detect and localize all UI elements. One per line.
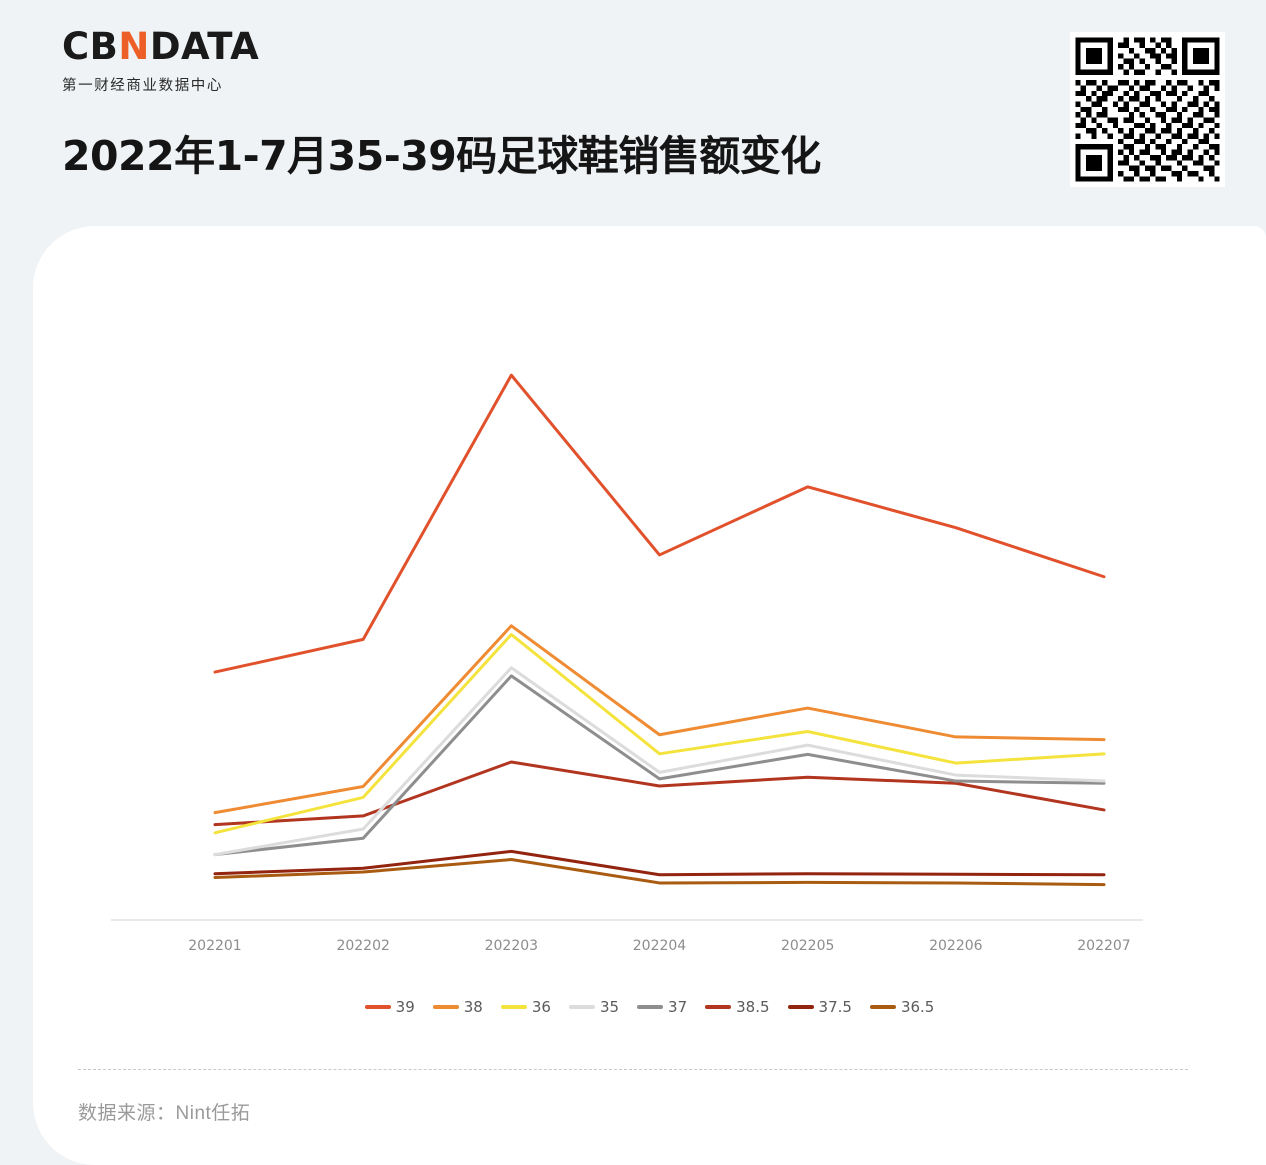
chart-legend: 393836353738.537.536.5 (33, 998, 1266, 1016)
legend-swatch-icon (569, 1005, 595, 1009)
logo-accent-letter: N (118, 25, 149, 68)
legend-label: 38 (464, 998, 483, 1016)
legend-item-38[interactable]: 38 (433, 998, 483, 1016)
x-tick-label: 202203 (485, 938, 538, 954)
legend-item-36[interactable]: 36 (501, 998, 551, 1016)
legend-item-37[interactable]: 37 (637, 998, 687, 1016)
page-title: 2022年1-7月35-39码足球鞋销售额变化 (62, 122, 821, 182)
series-line-37 (215, 676, 1104, 855)
x-tick-label: 202205 (781, 938, 834, 954)
logo-suffix: DATA (150, 25, 259, 68)
x-tick-labels: 2022012022022022032022042022052022062022… (188, 938, 1130, 954)
legend-label: 39 (396, 998, 415, 1016)
legend-swatch-icon (501, 1005, 527, 1009)
legend-label: 37.5 (819, 998, 852, 1016)
chart-svg: 2022012022022022032022042022052022062022… (33, 226, 1266, 986)
legend-item-38.5[interactable]: 38.5 (705, 998, 769, 1016)
legend-swatch-icon (637, 1005, 663, 1009)
data-source-label: 数据来源：Nint任拓 (78, 1098, 250, 1125)
legend-label: 37 (668, 998, 687, 1016)
legend-label: 35 (600, 998, 619, 1016)
logo-wordmark: CBNDATA (62, 28, 259, 65)
line-chart: 2022012022022022032022042022052022062022… (33, 226, 1266, 986)
legend-swatch-icon (870, 1005, 896, 1009)
logo-subtitle: 第一财经商业数据中心 (62, 74, 259, 95)
legend-item-39[interactable]: 39 (365, 998, 415, 1016)
legend-item-36.5[interactable]: 36.5 (870, 998, 934, 1016)
x-tick-label: 202206 (929, 938, 983, 954)
x-tick-label: 202201 (188, 938, 241, 954)
brand-logo: CBNDATA 第一财经商业数据中心 (62, 28, 259, 95)
x-tick-label: 202207 (1077, 938, 1130, 954)
qr-code-svg (1070, 32, 1225, 187)
qr-code-icon[interactable] (1070, 32, 1225, 187)
legend-label: 36 (532, 998, 551, 1016)
footer-divider (78, 1069, 1188, 1070)
legend-label: 38.5 (736, 998, 769, 1016)
logo-prefix: CB (62, 25, 118, 68)
legend-swatch-icon (433, 1005, 459, 1009)
chart-card: 2022012022022022032022042022052022062022… (33, 226, 1266, 1165)
legend-swatch-icon (788, 1005, 814, 1009)
legend-item-35[interactable]: 35 (569, 998, 619, 1016)
legend-swatch-icon (365, 1005, 391, 1009)
series-line-36.5 (215, 860, 1104, 885)
series-line-39 (215, 375, 1104, 672)
x-tick-label: 202202 (336, 938, 389, 954)
page-header: CBNDATA 第一财经商业数据中心 2022年1-7月35-39码足球鞋销售额… (0, 0, 1266, 225)
legend-label: 36.5 (901, 998, 934, 1016)
legend-item-37.5[interactable]: 37.5 (788, 998, 852, 1016)
series-layer (215, 375, 1104, 884)
x-tick-label: 202204 (633, 938, 687, 954)
legend-swatch-icon (705, 1005, 731, 1009)
